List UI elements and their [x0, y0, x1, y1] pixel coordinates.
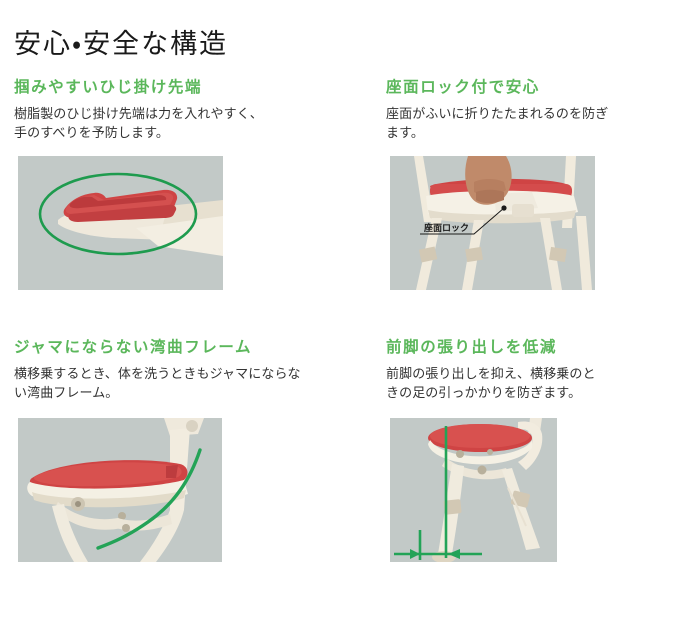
feature-body: 樹脂製のひじ掛け先端は力を入れやすく、 手のすべりを予防します。 — [14, 104, 344, 142]
feature-body-line: 手のすべりを予防します。 — [14, 123, 344, 142]
feature-heading: 座面ロック付で安心 — [386, 78, 676, 98]
page-title: 安心・安全な構造 — [14, 22, 228, 66]
feature-photo-armrest-tip — [18, 156, 223, 290]
feature-body-line: い湾曲フレーム。 — [14, 383, 364, 402]
feature-block-front-leg: 前脚の張り出しを低減 前脚の張り出しを抑え、横移乗のと きの足の引っかかりを防ぎ… — [386, 338, 676, 402]
feature-block-curved-frame: ジャマにならない湾曲フレーム 横移乗するとき、体を洗うときもジャマにならな い湾… — [14, 338, 364, 402]
photo-callout-label: 座面ロック — [423, 222, 469, 233]
feature-photo-front-leg — [390, 418, 557, 562]
feature-body-line: 座面がふいに折りたたまれるのを防ぎ — [386, 104, 676, 123]
feature-heading: ジャマにならない湾曲フレーム — [14, 338, 364, 358]
curved-frame-illustration — [18, 418, 222, 562]
feature-body: 横移乗するとき、体を洗うときもジャマにならな い湾曲フレーム。 — [14, 364, 364, 402]
feature-body: 前脚の張り出しを抑え、横移乗のと きの足の引っかかりを防ぎます。 — [386, 364, 676, 402]
seat-lock-illustration: 座面ロック — [390, 156, 595, 290]
feature-photo-curved-frame — [18, 418, 222, 562]
feature-body-line: ます。 — [386, 123, 676, 142]
feature-block-seat-lock: 座面ロック付で安心 座面がふいに折りたたまれるのを防ぎ ます。 — [386, 78, 676, 142]
feature-page: 安心・安全な構造 掴みやすいひじ掛け先端 樹脂製のひじ掛け先端は力を入れやすく、… — [0, 0, 677, 623]
front-leg-illustration — [390, 418, 557, 562]
armrest-tip-illustration — [18, 156, 223, 290]
feature-body: 座面がふいに折りたたまれるのを防ぎ ます。 — [386, 104, 676, 142]
feature-photo-seat-lock: 座面ロック — [390, 156, 595, 290]
feature-heading: 掴みやすいひじ掛け先端 — [14, 78, 344, 98]
feature-block-armrest-tip: 掴みやすいひじ掛け先端 樹脂製のひじ掛け先端は力を入れやすく、 手のすべりを予防… — [14, 78, 344, 142]
feature-heading: 前脚の張り出しを低減 — [386, 338, 676, 358]
feature-body-line: 樹脂製のひじ掛け先端は力を入れやすく、 — [14, 104, 344, 123]
feature-body-line: 前脚の張り出しを抑え、横移乗のと — [386, 364, 676, 383]
feature-body-line: 横移乗するとき、体を洗うときもジャマにならな — [14, 364, 364, 383]
feature-body-line: きの足の引っかかりを防ぎます。 — [386, 383, 676, 402]
